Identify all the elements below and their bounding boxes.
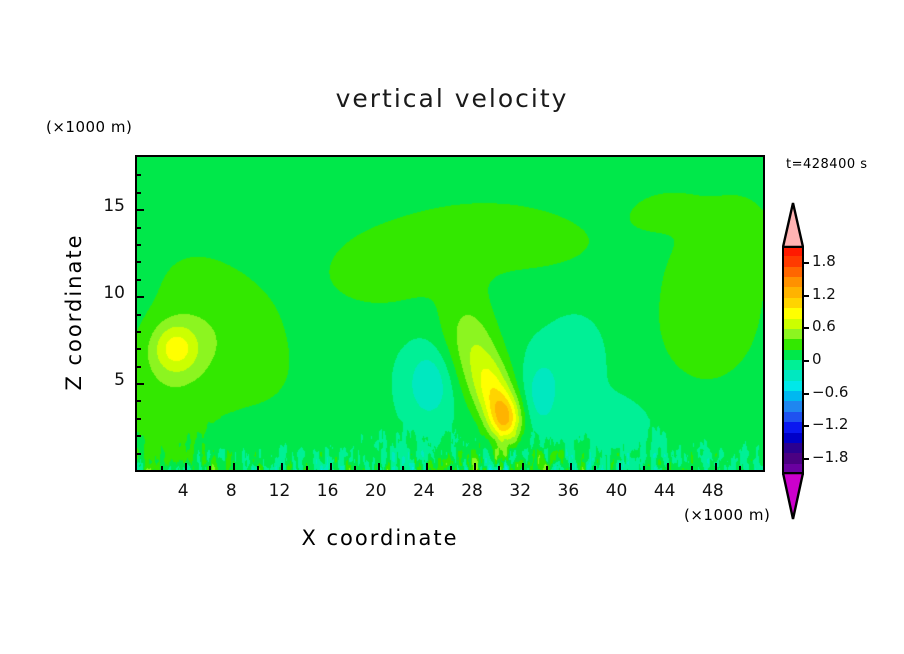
- y-tick: [137, 435, 141, 437]
- colorbar-frame: [782, 246, 804, 474]
- x-tick-label: 24: [402, 481, 446, 501]
- z-axis-unit-label: (×1000 m): [46, 118, 132, 136]
- x-tick: [306, 466, 308, 470]
- x-tick: [209, 466, 211, 470]
- x-tick: [498, 466, 500, 470]
- x-tick: [161, 466, 163, 470]
- x-tick: [619, 463, 621, 470]
- x-tick-label: 44: [643, 481, 687, 501]
- x-tick-label: 40: [595, 481, 639, 501]
- colorbar-tick-label: −1.8: [812, 448, 848, 466]
- colorbar-tick: [804, 360, 809, 362]
- y-tick: [137, 331, 141, 333]
- x-tick: [474, 463, 476, 470]
- colorbar-tick: [804, 262, 809, 264]
- colorbar-over-arrow: [782, 202, 804, 248]
- x-tick-label: 48: [691, 481, 735, 501]
- x-tick: [257, 466, 259, 470]
- x-tick-label: 4: [161, 481, 205, 501]
- y-tick-label: 10: [81, 283, 125, 303]
- x-tick: [522, 463, 524, 470]
- y-tick: [137, 174, 141, 176]
- y-tick: [137, 400, 141, 402]
- y-tick: [137, 279, 141, 281]
- colorbar-tick-label: −1.2: [812, 415, 848, 433]
- y-tick-label: 15: [81, 196, 125, 216]
- time-annotation: t=428400 s: [786, 157, 868, 172]
- x-tick: [570, 463, 572, 470]
- x-tick: [330, 463, 332, 470]
- x-tick: [546, 466, 548, 470]
- x-tick: [233, 463, 235, 470]
- colorbar: 1.81.20.60−0.6−1.2−1.8: [778, 200, 808, 520]
- y-tick: [137, 314, 141, 316]
- y-tick: [137, 209, 144, 211]
- x-tick-label: 20: [354, 481, 398, 501]
- x-tick-label: 28: [450, 481, 494, 501]
- y-tick: [137, 348, 141, 350]
- colorbar-under-arrow: [782, 472, 804, 520]
- x-tick: [402, 466, 404, 470]
- x-tick: [354, 466, 356, 470]
- y-tick: [137, 244, 141, 246]
- colorbar-tick-label: −0.6: [812, 383, 848, 401]
- x-tick: [185, 463, 187, 470]
- x-tick-label: 36: [546, 481, 590, 501]
- y-tick: [137, 418, 141, 420]
- y-tick: [137, 227, 141, 229]
- x-tick-label: 16: [306, 481, 350, 501]
- x-tick: [667, 463, 669, 470]
- x-tick: [715, 463, 717, 470]
- x-tick: [594, 466, 596, 470]
- colorbar-tick-label: 0: [812, 350, 822, 368]
- y-tick: [137, 192, 141, 194]
- colorbar-tick-label: 1.2: [812, 285, 836, 303]
- y-tick: [137, 296, 144, 298]
- x-axis-unit-label: (×1000 m): [684, 506, 770, 524]
- x-tick: [281, 463, 283, 470]
- y-tick-label: 5: [81, 370, 125, 390]
- y-tick: [137, 383, 144, 385]
- y-axis-label: Z coordinate: [62, 212, 86, 412]
- x-tick: [378, 463, 380, 470]
- colorbar-tick-label: 0.6: [812, 317, 836, 335]
- page-title: vertical velocity: [0, 84, 904, 113]
- y-tick: [137, 261, 141, 263]
- contour-field-canvas: [137, 157, 763, 470]
- colorbar-tick: [804, 327, 809, 329]
- colorbar-tick: [804, 458, 809, 460]
- x-tick-label: 12: [257, 481, 301, 501]
- x-axis-label: X coordinate: [0, 526, 760, 550]
- colorbar-tick: [804, 425, 809, 427]
- x-tick: [739, 466, 741, 470]
- x-tick-label: 32: [498, 481, 542, 501]
- colorbar-tick: [804, 393, 809, 395]
- contour-plot-area: [135, 155, 765, 472]
- x-tick: [426, 463, 428, 470]
- y-tick: [137, 453, 141, 455]
- colorbar-tick-label: 1.8: [812, 252, 836, 270]
- x-tick-label: 8: [209, 481, 253, 501]
- colorbar-tick: [804, 295, 809, 297]
- x-tick: [450, 466, 452, 470]
- y-tick: [137, 366, 141, 368]
- x-tick: [643, 466, 645, 470]
- x-tick: [691, 466, 693, 470]
